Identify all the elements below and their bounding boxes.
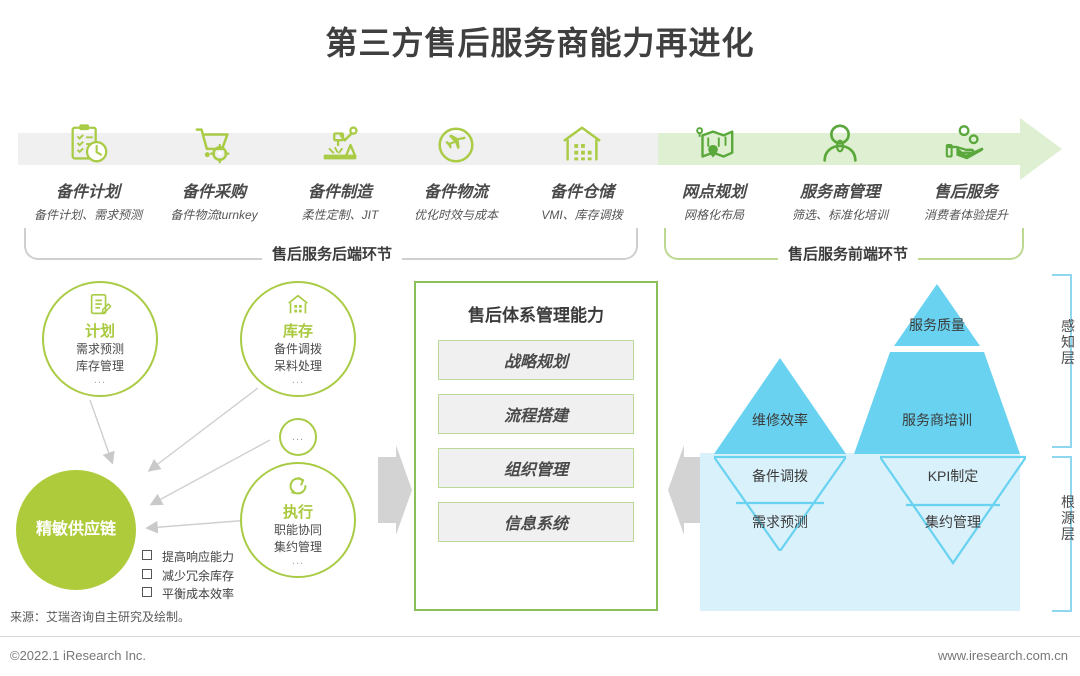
person-gear-icon	[776, 118, 904, 172]
top-item-desc: 优化时效与成本	[392, 206, 520, 223]
iceberg-2-below-label-2: 集约管理	[880, 512, 1026, 532]
cart-gear-icon	[150, 118, 278, 172]
infographic-page: 第三方售后服务商能力再进化 备件计划 备件计划、需求预测	[0, 0, 1080, 676]
top-item-beijian-wuliu[interactable]: 备件物流 优化时效与成本	[392, 118, 520, 223]
warehouse-icon	[518, 118, 646, 172]
bullet-square-icon	[142, 587, 152, 597]
source-note: 来源：艾瑞咨询自主研究及绘制。	[10, 608, 190, 625]
circle-line-1: 职能协同	[274, 523, 322, 538]
refresh-cycle-icon	[285, 473, 311, 504]
circle-dots: ...	[94, 375, 106, 386]
capability-item-organization[interactable]: 组织管理	[438, 448, 634, 488]
top-item-desc: 筛选、标准化培训	[776, 206, 904, 223]
circle-kucun[interactable]: 库存 备件调拨 呆料处理 ...	[240, 281, 356, 397]
document-edit-icon	[87, 292, 113, 323]
top-item-beijian-cangchu[interactable]: 备件仓储 VMI、库存调拨	[518, 118, 646, 223]
page-title: 第三方售后服务商能力再进化	[0, 18, 1080, 64]
top-item-name: 备件计划	[24, 178, 152, 202]
circle-title: 库存	[283, 324, 313, 341]
copyright-text: ©2022.1 iResearch Inc.	[10, 648, 146, 663]
capability-item-process[interactable]: 流程搭建	[438, 394, 634, 434]
top-item-fuwushang-guanli[interactable]: 服务商管理 筛选、标准化培训	[776, 118, 904, 223]
capability-item-information-system[interactable]: 信息系统	[438, 502, 634, 542]
iceberg-1-below-label-2: 需求预测	[714, 512, 846, 532]
circle-line-2: 呆料处理	[274, 359, 322, 374]
center-panel-title: 售后体系管理能力	[416, 301, 656, 326]
top-item-wangdian-guihua[interactable]: 网点规划 网格化布局	[650, 118, 778, 223]
warehouse-small-icon	[285, 292, 311, 323]
top-item-name: 网点规划	[650, 178, 778, 202]
hub-agile-supply-chain[interactable]: 精敏供应链	[16, 470, 136, 590]
iceberg-2-below-label-1: KPI制定	[880, 466, 1026, 486]
circle-title: 执行	[283, 505, 313, 522]
list-item: 减少冗余库存	[142, 567, 234, 586]
bullet-square-icon	[142, 569, 152, 579]
iceberg-2-above-label-1: 服务质量	[854, 315, 1020, 335]
circle-jihua[interactable]: 计划 需求预测 库存管理 ...	[42, 281, 158, 397]
center-panel: 售后体系管理能力 战略规划 流程搭建 组织管理 信息系统	[414, 281, 658, 611]
list-item: 提高响应能力	[142, 548, 234, 567]
top-item-desc: 网格化布局	[650, 206, 778, 223]
top-item-desc: 备件计划、需求预测	[24, 206, 152, 223]
frontend-bracket-label: 售后服务前端环节	[778, 243, 918, 264]
circle-line-2: 集约管理	[274, 540, 322, 555]
top-item-desc: 柔性定制、JIT	[276, 206, 404, 223]
top-item-shouhou-fuwu[interactable]: 售后服务 消费者体验提升	[902, 118, 1030, 223]
benefit-list: 提高响应能力 减少冗余库存 平衡成本效率	[142, 548, 234, 604]
airplane-circle-icon	[392, 118, 520, 172]
layer-label-perception: 感知层	[1060, 318, 1076, 366]
top-item-desc: VMI、库存调拨	[518, 206, 646, 223]
circle-title: 计划	[85, 324, 115, 341]
clipboard-clock-icon	[24, 118, 152, 172]
hand-care-icon	[902, 118, 1030, 172]
circle-dots: ...	[292, 375, 304, 386]
list-item: 平衡成本效率	[142, 585, 234, 604]
top-item-name: 备件制造	[276, 178, 404, 202]
bullet-square-icon	[142, 550, 152, 560]
hub-label: 精敏供应链	[36, 520, 116, 539]
map-pin-icon	[650, 118, 778, 172]
top-item-desc: 备件物流turnkey	[150, 206, 278, 223]
top-item-name: 备件仓储	[518, 178, 646, 202]
circle-dots: ...	[292, 556, 304, 567]
layer-label-root: 根源层	[1060, 494, 1076, 542]
website-link[interactable]: www.iresearch.com.cn	[938, 648, 1068, 663]
iceberg-1-below-label-1: 备件调拨	[714, 466, 846, 486]
top-item-name: 服务商管理	[776, 178, 904, 202]
iceberg-2-above-label-2: 服务商培训	[854, 410, 1020, 430]
circle-line-2: 库存管理	[76, 359, 124, 374]
chevron-left-icon	[668, 445, 702, 535]
top-item-beijian-jihua[interactable]: 备件计划 备件计划、需求预测	[24, 118, 152, 223]
footer-divider	[0, 636, 1080, 637]
circle-dots-node[interactable]: ...	[279, 418, 317, 456]
top-item-beijian-caigou[interactable]: 备件采购 备件物流turnkey	[150, 118, 278, 223]
backend-bracket-label: 售后服务后端环节	[262, 243, 402, 264]
circle-zhixing[interactable]: 执行 职能协同 集约管理 ...	[240, 462, 356, 578]
iceberg-1-above-icon	[714, 358, 846, 454]
robot-arm-icon	[276, 118, 404, 172]
top-item-name: 备件采购	[150, 178, 278, 202]
capability-item-strategy[interactable]: 战略规划	[438, 340, 634, 380]
circle-line-1: 需求预测	[76, 342, 124, 357]
top-item-name: 售后服务	[902, 178, 1030, 202]
top-item-name: 备件物流	[392, 178, 520, 202]
top-item-desc: 消费者体验提升	[902, 206, 1030, 223]
chevron-right-icon	[378, 445, 412, 535]
top-item-beijian-zhizao[interactable]: 备件制造 柔性定制、JIT	[276, 118, 404, 223]
circle-line-1: 备件调拨	[274, 342, 322, 357]
iceberg-1-above-label-1: 维修效率	[714, 410, 846, 430]
